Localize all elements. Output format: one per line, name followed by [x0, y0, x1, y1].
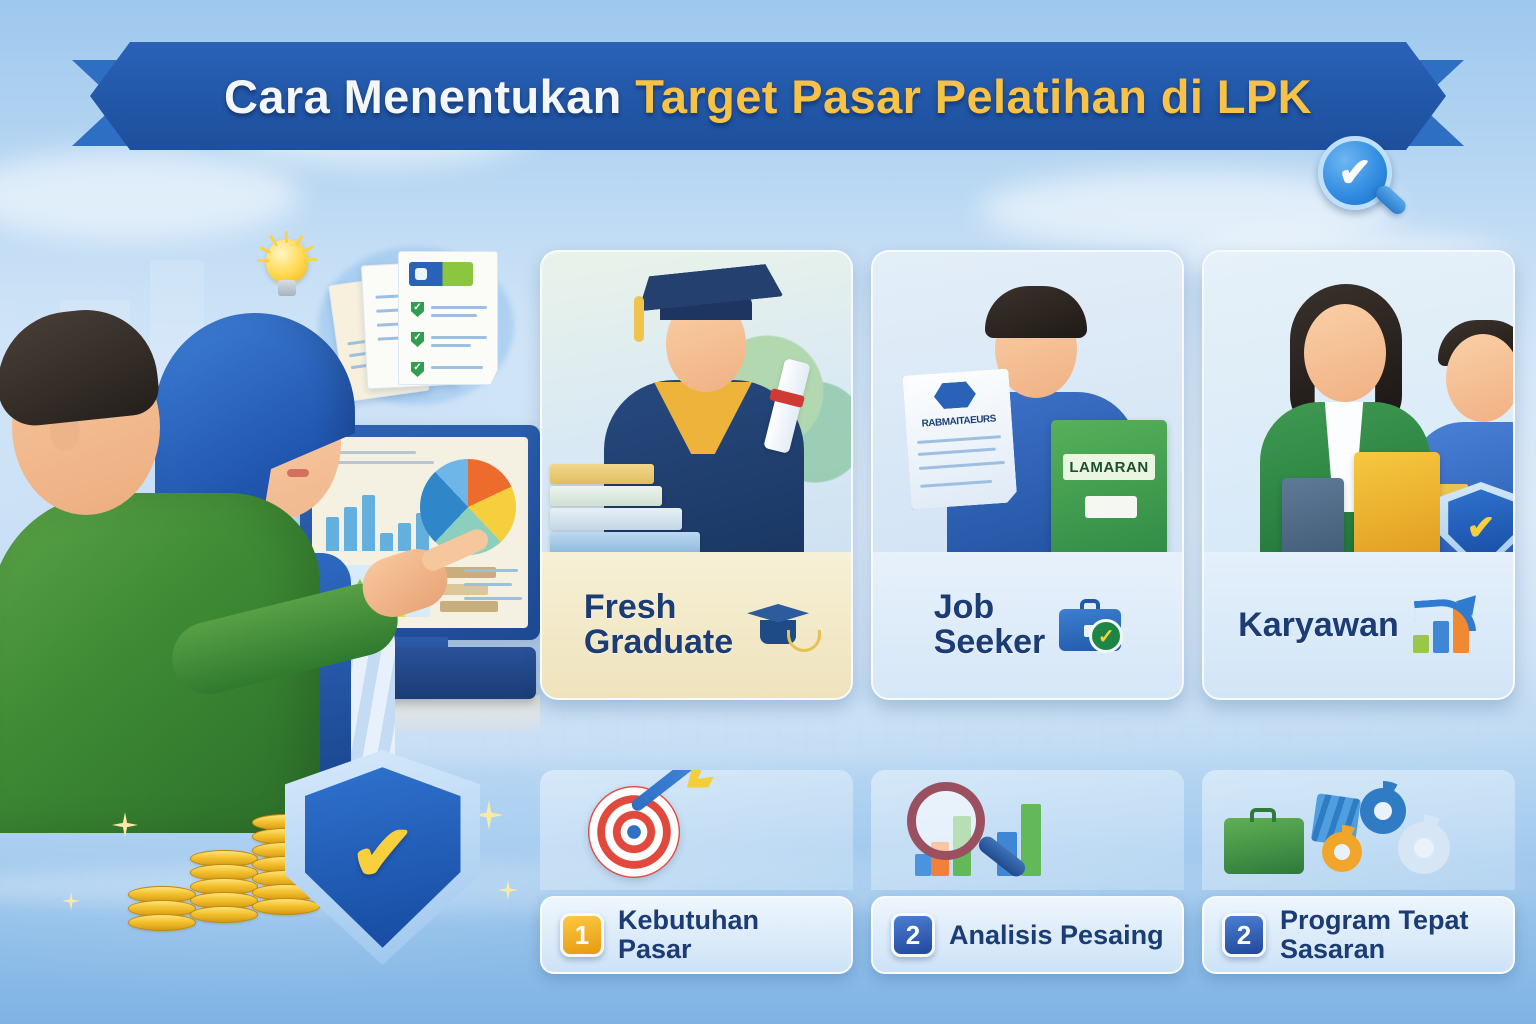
man-hair	[0, 303, 161, 429]
shield-check-glyph: ✔	[350, 814, 415, 892]
job-seeker-hair	[985, 286, 1087, 338]
card-label-line2: Graduate	[584, 625, 733, 660]
step-card-kebutuhan-pasar[interactable]: 1 Kebutuhan Pasar	[540, 770, 853, 1000]
document-logo	[933, 381, 977, 410]
step-2-pill[interactable]: 2 Analisis Pesaing	[871, 896, 1184, 974]
step-label-line1: Program Tepat	[1280, 906, 1469, 935]
briefcase-handle	[1250, 808, 1276, 822]
left-illustration: ✓ ✓ ✓	[0, 195, 540, 835]
bulb-ray	[257, 259, 269, 262]
card-label-line2: Seeker	[934, 625, 1046, 660]
job-seeker-label: Job Seeker ✓	[873, 552, 1182, 698]
step-label-line1: Kebutuhan Pasar	[618, 906, 833, 963]
step-1-pill[interactable]: 1 Kebutuhan Pasar	[540, 896, 853, 974]
bulb-glass	[266, 239, 308, 283]
card-label-line1: Job	[934, 590, 1046, 625]
mini-shield-check-glyph: ✔	[1467, 511, 1496, 545]
card-label-text: Karyawan	[1238, 608, 1399, 643]
karyawan-illustration: ✔	[1204, 252, 1513, 552]
application-document: RABMAITAEURS	[902, 368, 1017, 509]
bulb-ray	[305, 258, 317, 261]
employee-man-face	[1446, 334, 1513, 422]
job-seeker-illustration: RABMAITAEURS LAMARAN	[873, 252, 1182, 552]
book-stack	[550, 464, 710, 552]
lamaran-folder: LAMARAN	[1051, 420, 1167, 552]
card-label-text: Fresh Graduate	[584, 590, 733, 659]
coin-stack	[190, 853, 258, 935]
step-number-badge: 2	[1222, 913, 1266, 957]
step-label-line1: Analisis Pesaing	[949, 921, 1164, 950]
step-number-badge: 1	[560, 913, 604, 957]
document-title: RABMAITAEURS	[914, 413, 1005, 430]
segment-card-fresh-graduate[interactable]: Fresh Graduate	[540, 250, 853, 700]
step-number-badge: 2	[891, 913, 935, 957]
bulb-base	[278, 280, 296, 296]
step-label-line2: Sasaran	[1280, 935, 1469, 964]
growth-chart-arrow-icon	[1413, 597, 1479, 653]
page-title: Cara Menentukan Target Pasar Pelatihan d…	[224, 69, 1312, 124]
shield-outer: ✔	[285, 750, 480, 965]
cap-tassel	[634, 296, 644, 342]
karyawan-label: Karyawan	[1204, 552, 1513, 698]
step-label: Program Tepat Sasaran	[1280, 906, 1469, 963]
step-2-illustration	[871, 770, 1184, 890]
briefcase-check-icon: ✓	[1059, 599, 1121, 651]
lightbulb-icon	[256, 233, 318, 307]
step-label: Kebutuhan Pasar	[618, 906, 833, 963]
page-title-gold: Target Pasar Pelatihan di LPK	[635, 70, 1312, 123]
segment-card-karyawan[interactable]: ✔ Karyawan	[1202, 250, 1515, 700]
person-man-green-jacket	[0, 303, 320, 833]
card-label-line1: Fresh	[584, 590, 733, 625]
step-cards: 1 Kebutuhan Pasar 2 Analisis Pesaing	[540, 770, 1515, 1000]
graduation-cap-icon	[747, 600, 809, 650]
folder-slip	[1085, 496, 1137, 518]
analysis-bar	[915, 854, 931, 876]
step-3-illustration	[1202, 770, 1515, 890]
step-1-illustration	[540, 770, 853, 890]
shield-inner: ✔	[305, 767, 461, 948]
header-ribbon: Cara Menentukan Target Pasar Pelatihan d…	[0, 42, 1536, 150]
infographic-poster: Cara Menentukan Target Pasar Pelatihan d…	[0, 0, 1536, 1024]
document-header-logo	[409, 262, 473, 286]
blue-shield-check-icon: ✔	[285, 750, 480, 965]
segment-card-job-seeker[interactable]: RABMAITAEURS LAMARAN Job Seeker	[871, 250, 1184, 700]
fresh-graduate-label: Fresh Graduate	[542, 552, 851, 698]
bulb-ray	[302, 245, 314, 253]
segment-cards: Fresh Graduate RABMAITAEURS	[540, 250, 1515, 700]
mini-shield-check-icon: ✔	[1440, 482, 1513, 552]
yellow-clipboard	[1354, 452, 1440, 552]
card-label-text: Job Seeker	[934, 590, 1046, 659]
magnifier-lens	[907, 782, 985, 860]
bulb-ray	[285, 231, 288, 243]
page-title-white: Cara Menentukan	[224, 70, 635, 123]
coin-stack	[128, 889, 196, 935]
fresh-graduate-illustration	[542, 252, 851, 552]
gear-icon	[1322, 832, 1362, 872]
mini-shield-inner: ✔	[1448, 489, 1513, 552]
check-glyph: ✔	[1338, 153, 1372, 193]
step-3-pill[interactable]: 2 Program Tepat Sasaran	[1202, 896, 1515, 974]
magnifier-handle	[1373, 183, 1409, 218]
card-label-line1: Karyawan	[1238, 608, 1399, 643]
magnifier-check-icon: ✔	[1318, 136, 1404, 222]
step-card-analisis-pesaing[interactable]: 2 Analisis Pesaing	[871, 770, 1184, 1000]
tablet-device	[1282, 478, 1344, 552]
gear-icon	[1398, 822, 1450, 874]
ribbon-band: Cara Menentukan Target Pasar Pelatihan d…	[90, 42, 1446, 150]
briefcase-icon	[1224, 818, 1304, 874]
step-card-program-tepat-sasaran[interactable]: 2 Program Tepat Sasaran	[1202, 770, 1515, 1000]
folder-label: LAMARAN	[1063, 454, 1155, 480]
mini-shield-outer: ✔	[1440, 482, 1513, 552]
step-label: Analisis Pesaing	[949, 921, 1164, 950]
employee-woman-face	[1304, 304, 1386, 402]
